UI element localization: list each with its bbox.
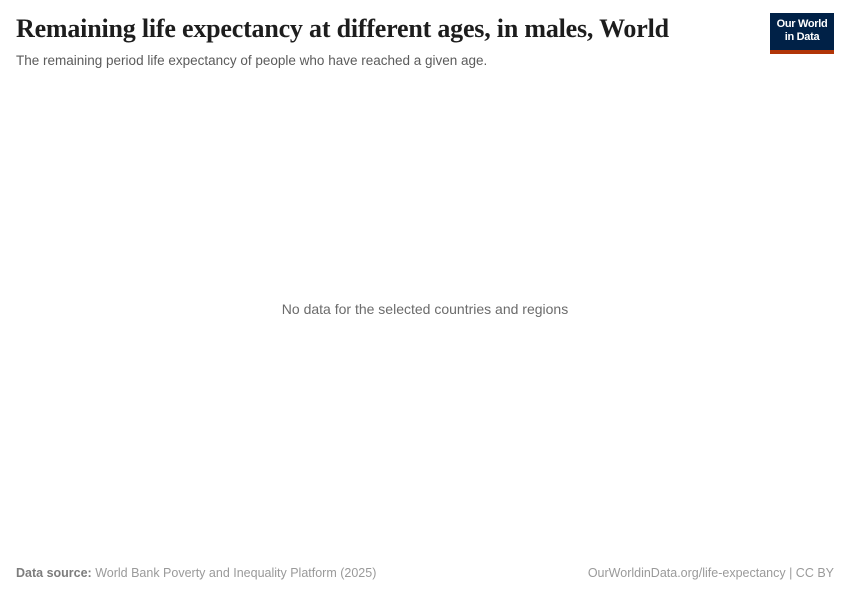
attribution-link[interactable]: OurWorldinData.org/life-expectancy | CC … (588, 566, 834, 580)
chart-subtitle: The remaining period life expectancy of … (16, 51, 736, 71)
chart-header: Remaining life expectancy at different a… (0, 0, 850, 70)
logo-line-one: Our World (774, 18, 830, 31)
data-source-label: Data source: (16, 566, 92, 580)
data-source-value: World Bank Poverty and Inequality Platfo… (92, 566, 377, 580)
plot-area: No data for the selected countries and r… (0, 70, 850, 566)
page-title: Remaining life expectancy at different a… (16, 14, 736, 45)
logo-line-two: in Data (774, 31, 830, 44)
chart-container: Remaining life expectancy at different a… (0, 0, 850, 600)
our-world-in-data-logo[interactable]: Our World in Data (770, 13, 834, 54)
chart-footer: Data source: World Bank Poverty and Ineq… (0, 566, 850, 600)
no-data-message: No data for the selected countries and r… (282, 300, 568, 320)
data-source: Data source: World Bank Poverty and Ineq… (16, 566, 376, 580)
